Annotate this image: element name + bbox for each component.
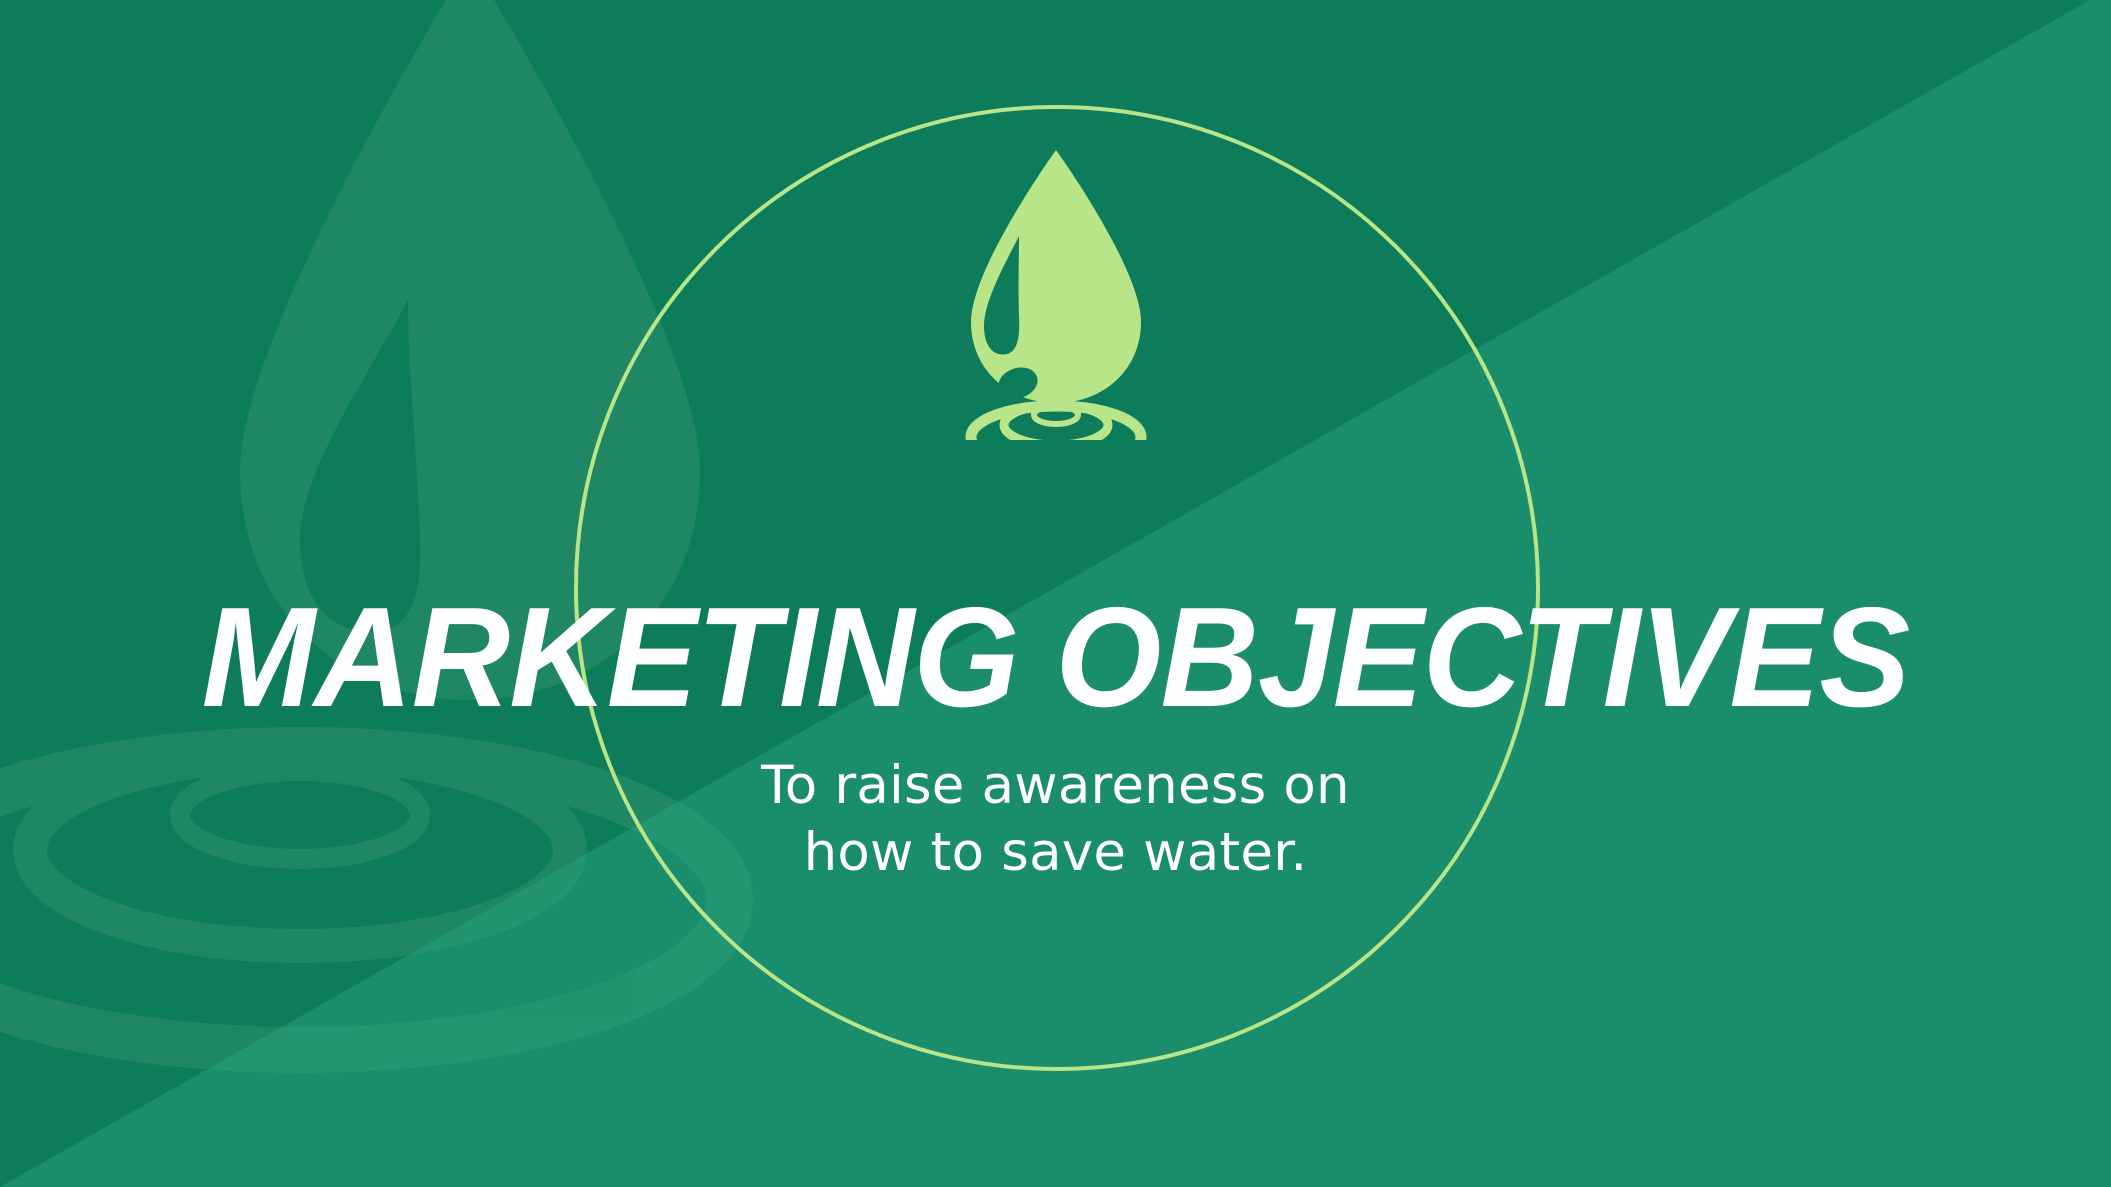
subtitle-line-2: how to save water. (606, 820, 1506, 887)
slide-content: MARKETING OBJECTIVES To raise awareness … (0, 0, 2111, 1187)
water-drop-icon (906, 140, 1206, 440)
page-title: MARKETING OBJECTIVES (42, 587, 2069, 729)
subtitle: To raise awareness on how to save water. (606, 753, 1506, 887)
subtitle-line-1: To raise awareness on (606, 753, 1506, 820)
slide-canvas: MARKETING OBJECTIVES To raise awareness … (0, 0, 2111, 1187)
water-ripple-icon (971, 405, 1141, 440)
